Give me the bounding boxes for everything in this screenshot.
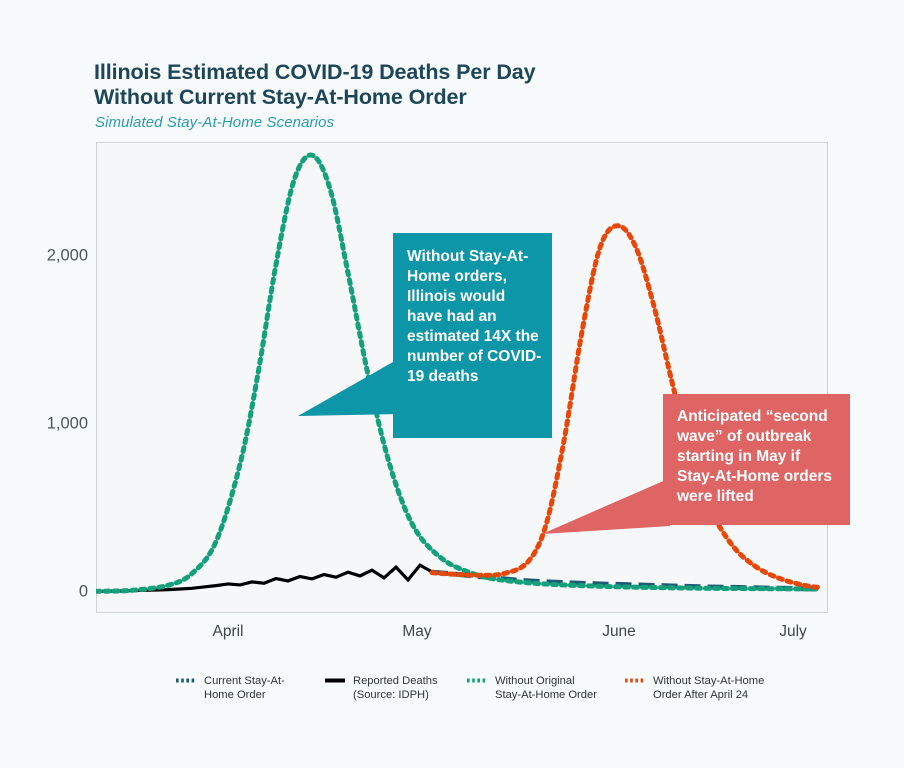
pink-callout: Anticipated “second wave” of outbreak st…	[663, 394, 850, 525]
chart-subtitle: Simulated Stay-At-Home Scenarios	[95, 114, 334, 131]
title-line-1: Illinois Estimated COVID-19 Deaths Per D…	[94, 60, 535, 84]
legend-item-label: Current Stay-At- Home Order	[204, 674, 324, 703]
x-tick-april: April	[212, 623, 243, 641]
page-title: Illinois Estimated COVID-19 Deaths Per D…	[94, 60, 714, 110]
teal-callout-text: Without Stay-At-Home orders, Illinois wo…	[407, 248, 541, 385]
legend-item[interactable]: Without Stay-At-Home Order After April 2…	[624, 674, 773, 703]
legend-item[interactable]: Without Original Stay-At-Home Order	[466, 674, 615, 703]
legend-item[interactable]: Reported Deaths (Source: IDPH)	[324, 674, 473, 703]
pink-callout-text: Anticipated “second wave” of outbreak st…	[677, 408, 832, 505]
y-tick-1000: 1,000	[0, 415, 88, 434]
x-tick-july: July	[779, 623, 807, 641]
x-tick-may: May	[402, 623, 431, 641]
legend-item[interactable]: Current Stay-At- Home Order	[175, 674, 324, 703]
legend-swatch-icon	[324, 675, 346, 686]
y-tick-0: 0	[0, 583, 88, 602]
legend-swatch-icon	[624, 675, 646, 686]
legend-item-label: Reported Deaths (Source: IDPH)	[353, 674, 473, 703]
legend-item-label: Without Stay-At-Home Order After April 2…	[653, 674, 773, 703]
legend-swatch-icon	[175, 675, 197, 686]
legend-swatch-icon	[466, 675, 488, 686]
teal-callout: Without Stay-At-Home orders, Illinois wo…	[393, 233, 552, 438]
pink-callout-tail	[540, 476, 676, 538]
y-tick-2000: 2,000	[0, 247, 88, 266]
x-tick-june: June	[602, 623, 636, 641]
teal-callout-tail	[296, 356, 406, 422]
y-axis: 2,000 1,000 0	[0, 0, 88, 768]
chart-legend: Current Stay-At- Home OrderReported Deat…	[96, 674, 836, 714]
title-line-2: Without Current Stay-At-Home Order	[94, 85, 714, 110]
legend-item-label: Without Original Stay-At-Home Order	[495, 674, 615, 703]
